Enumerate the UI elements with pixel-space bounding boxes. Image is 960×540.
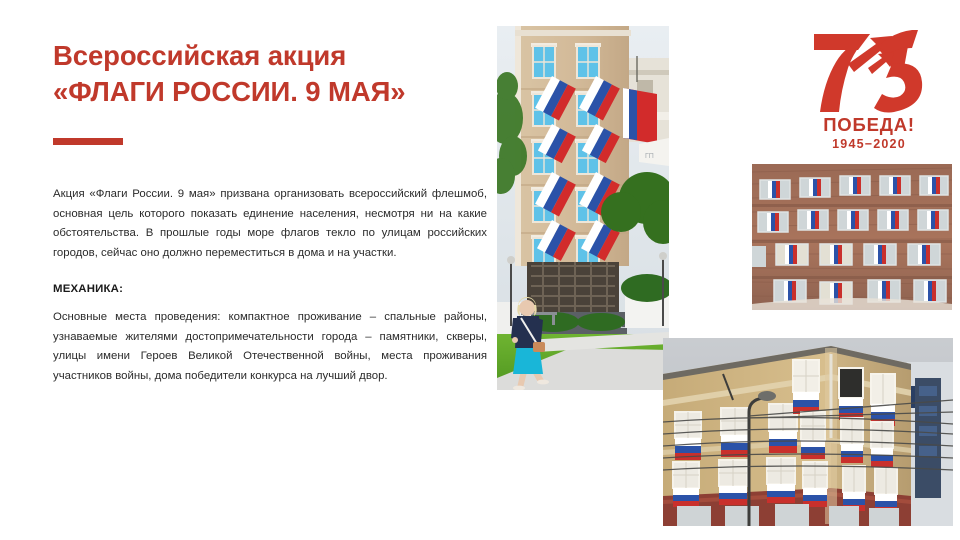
title-line-1: Всероссийская акция <box>53 40 346 71</box>
title-line-2: «ФЛАГИ РОССИИ. 9 МАЯ» <box>53 74 491 110</box>
victory-75-mark <box>808 24 930 116</box>
victory-75-logo: ПОБЕДА! 1945−2020 <box>800 24 938 160</box>
page-title: Всероссийская акция «ФЛАГИ РОССИИ. 9 МАЯ… <box>53 38 491 110</box>
logo-word-pobeda: ПОБЕДА! <box>800 116 938 135</box>
mechanics-paragraph: Основные места проведения: компактное пр… <box>53 308 487 386</box>
title-divider <box>53 138 123 145</box>
logo-years: 1945−2020 <box>800 138 938 151</box>
photo-street-building: ГП <box>497 26 669 390</box>
photo-corner-building <box>663 338 953 526</box>
title-block: Всероссийская акция «ФЛАГИ РОССИИ. 9 МАЯ… <box>53 38 491 145</box>
svg-text:ГП: ГП <box>645 153 654 160</box>
photo-brick-building <box>752 164 952 310</box>
mechanics-heading: МЕХАНИКА: <box>53 283 123 295</box>
intro-paragraph: Акция «Флаги России. 9 мая» призвана орг… <box>53 185 487 263</box>
slide-canvas: Всероссийская акция «ФЛАГИ РОССИИ. 9 МАЯ… <box>0 0 960 540</box>
